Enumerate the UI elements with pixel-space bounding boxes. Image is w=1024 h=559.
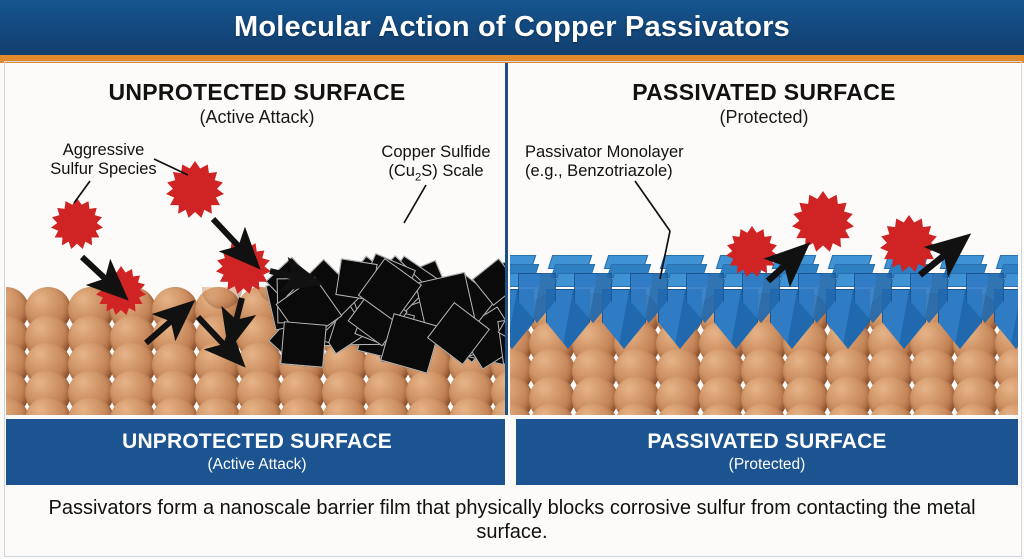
right-panel-arrows (510, 63, 1018, 415)
figure-root: Molecular Action of Copper Passivators U… (0, 0, 1024, 559)
footer-note: Passivators form a nanoscale barrier fil… (6, 487, 1018, 553)
caption-divider (505, 419, 508, 485)
callout-aggressive-sulfur: Aggressive Sulfur Species (36, 141, 171, 179)
caption-left-subtitle: (Active Attack) (207, 456, 306, 474)
callout-scale-line2: (Cu2S) Scale (361, 162, 508, 184)
footer-text: Passivators form a nanoscale barrier fil… (32, 496, 992, 545)
panel-passivated: PASSIVATED SURFACE (Protected) (510, 63, 1018, 415)
caption-right-subtitle: (Protected) (729, 456, 806, 474)
callout-copper-sulfide-scale: Copper Sulfide (Cu2S) Scale (361, 143, 508, 184)
panel-divider (505, 63, 508, 415)
callout-mono-line2: (e.g., Benzotriazole) (525, 162, 725, 181)
caption-passivated: PASSIVATED SURFACE (Protected) (516, 419, 1018, 485)
panel-unprotected: UNPROTECTED SURFACE (Active Attack) (6, 63, 508, 415)
callout-sulfur-line2: Sulfur Species (36, 160, 171, 179)
callout-sulfur-line1: Aggressive (36, 141, 171, 160)
caption-left-title: UNPROTECTED SURFACE (122, 430, 392, 454)
callout-scale-line1: Copper Sulfide (361, 143, 508, 162)
diagram-stage: UNPROTECTED SURFACE (Active Attack) (6, 63, 1018, 415)
caption-unprotected: UNPROTECTED SURFACE (Active Attack) (6, 419, 508, 485)
callout-passivator-monolayer: Passivator Monolayer (e.g., Benzotriazol… (525, 143, 725, 181)
title-bar: Molecular Action of Copper Passivators (0, 0, 1024, 55)
left-panel-arrows (6, 63, 508, 415)
caption-right-title: PASSIVATED SURFACE (647, 430, 886, 454)
caption-bars: UNPROTECTED SURFACE (Active Attack) PASS… (6, 419, 1018, 485)
figure-title: Molecular Action of Copper Passivators (234, 11, 790, 44)
callout-mono-line1: Passivator Monolayer (525, 143, 725, 162)
orange-divider-rule (0, 55, 1024, 63)
